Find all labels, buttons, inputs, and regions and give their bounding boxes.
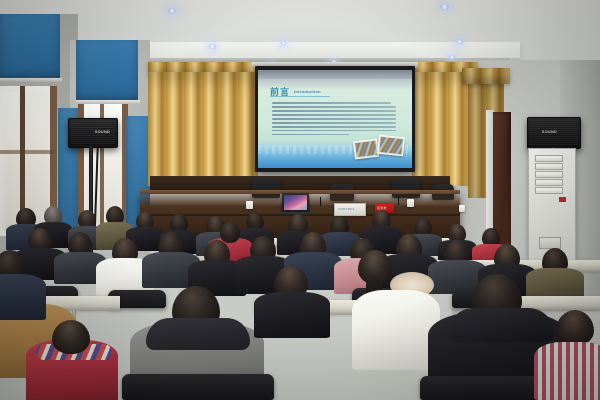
loudspeaker-right-brand: SOUND: [542, 130, 557, 134]
teacup: [246, 201, 253, 209]
loudspeaker-left: SOUND: [68, 118, 118, 148]
slide-photo-thumbnail: [353, 139, 379, 160]
panel-switch[interactable]: [535, 155, 563, 162]
audience-hood: [146, 318, 250, 350]
laptop[interactable]: [282, 193, 309, 212]
curtain-valance-right: [462, 68, 510, 84]
panel-switch[interactable]: [535, 163, 563, 170]
conference-room-photo: 前言 Introduction: [0, 0, 600, 400]
audience-body: [0, 274, 46, 320]
slide-top-band: [258, 70, 412, 79]
panel-switch[interactable]: [535, 171, 563, 178]
panel-indicator-light: [559, 197, 566, 202]
window-sill-left: [0, 150, 54, 154]
audience-hood: [448, 308, 554, 342]
window-glare-left: [2, 92, 18, 146]
downlight-icon: [209, 44, 216, 49]
teacup: [407, 199, 414, 207]
roller-blind-mid[interactable]: [76, 40, 138, 102]
slide-title-underline: [270, 96, 330, 97]
roller-blind-mid-bar[interactable]: [76, 100, 140, 104]
audience-body: [352, 290, 440, 370]
audience-body: [534, 342, 600, 400]
panel-switch[interactable]: [535, 179, 563, 186]
audience-chair-back: [122, 374, 274, 400]
teacup: [459, 205, 465, 212]
roller-blind-left-bar[interactable]: [0, 78, 62, 82]
control-box-label: CONTROL: [338, 207, 355, 211]
control-equipment-box: CONTROL: [334, 203, 366, 216]
wall-socket[interactable]: [539, 237, 561, 249]
loudspeaker-right: SOUND: [527, 117, 581, 149]
audience-head: [220, 222, 240, 243]
roller-blind-left[interactable]: [0, 14, 60, 80]
audience-head: [556, 310, 594, 346]
downlight-icon: [168, 8, 176, 14]
curtain-panel-right: [412, 72, 474, 186]
slide-title-english: Introduction: [294, 89, 321, 94]
slide-body-text: [272, 102, 396, 138]
audience-head: [52, 320, 90, 354]
laptop-screen: [284, 195, 307, 210]
loudspeaker-left-brand: SOUND: [95, 130, 110, 134]
presentation-slide: 前言 Introduction: [258, 70, 412, 168]
microphone-icon: [320, 197, 321, 206]
downlight-icon: [281, 41, 286, 45]
projection-screen: 前言 Introduction: [255, 66, 415, 172]
panel-switch[interactable]: [535, 187, 563, 194]
slide-photo-thumbnail: [377, 135, 405, 157]
curtain-panel-left: [148, 72, 258, 186]
microphone-icon: [398, 196, 399, 205]
downlight-icon: [456, 39, 463, 44]
audience-body: [254, 292, 330, 338]
electrical-panel[interactable]: [528, 148, 576, 262]
downlight-icon: [449, 55, 455, 59]
downlight-icon: [440, 4, 449, 10]
